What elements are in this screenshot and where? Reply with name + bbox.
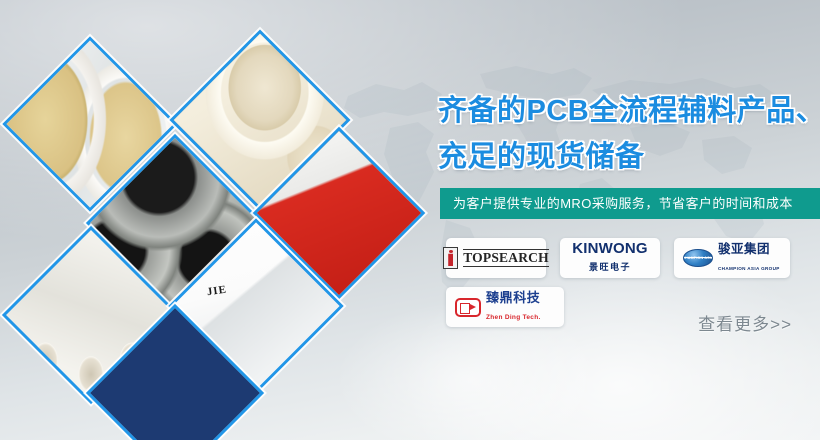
banner-headline: 齐备的PCB全流程辅料产品、 充足的现货储备	[438, 88, 820, 180]
partner-logo-zhen-ding[interactable]: 臻鼎科技 Zhen Ding Tech.	[446, 287, 564, 327]
promo-banner: JIE 齐备的PCB全流程辅料产品、 充足的现货储备 为客户提供专业的MRO采购…	[0, 0, 820, 440]
headline-line-2: 充足的现货储备	[438, 134, 820, 180]
zhen-ding-cn-text: 臻鼎科技	[486, 290, 540, 305]
film-brand-text: JIE	[206, 284, 227, 298]
zhen-ding-wordmark: 臻鼎科技 Zhen Ding Tech.	[486, 290, 555, 324]
product-collage: JIE	[0, 0, 420, 440]
kinwong-en-text: KINWONG	[572, 240, 648, 257]
partner-logo-topsearch[interactable]: TOPSEARCH	[446, 238, 546, 278]
kinwong-cn-text: 景旺电子	[589, 262, 631, 272]
banner-subtitle: 为客户提供专业的MRO采购服务，节省客户的时间和成本	[440, 188, 820, 219]
champion-asia-cn-text: 骏亚集团	[718, 242, 770, 256]
champion-asia-en-text: CHAMPION ASIA GROUP	[718, 266, 780, 271]
kinwong-wordmark-icon: KINWONG 景旺电子	[569, 241, 651, 275]
globe-icon: CHAMPION ASIA	[683, 249, 713, 267]
topsearch-wordmark: TOPSEARCH	[463, 249, 549, 267]
partner-logo-row-1: TOPSEARCH KINWONG 景旺电子 CHAMPION ASIA 骏亚集…	[446, 238, 820, 278]
zhending-mark-icon	[455, 298, 481, 317]
view-more-link[interactable]: 查看更多>>	[698, 310, 792, 335]
partner-logo-champion-asia[interactable]: CHAMPION ASIA 骏亚集团 CHAMPION ASIA GROUP	[674, 238, 790, 278]
champion-asia-wordmark: 骏亚集团 CHAMPION ASIA GROUP	[718, 241, 781, 275]
headline-line-1: 齐备的PCB全流程辅料产品、	[438, 95, 820, 127]
topsearch-mark-icon	[443, 247, 458, 269]
globe-icon-text: CHAMPION ASIA	[683, 256, 713, 260]
partner-logo-kinwong[interactable]: KINWONG 景旺电子	[560, 238, 660, 278]
banner-content: 齐备的PCB全流程辅料产品、 充足的现货储备 为客户提供专业的MRO采购服务，节…	[430, 0, 820, 440]
zhen-ding-en-text: Zhen Ding Tech.	[486, 314, 541, 321]
